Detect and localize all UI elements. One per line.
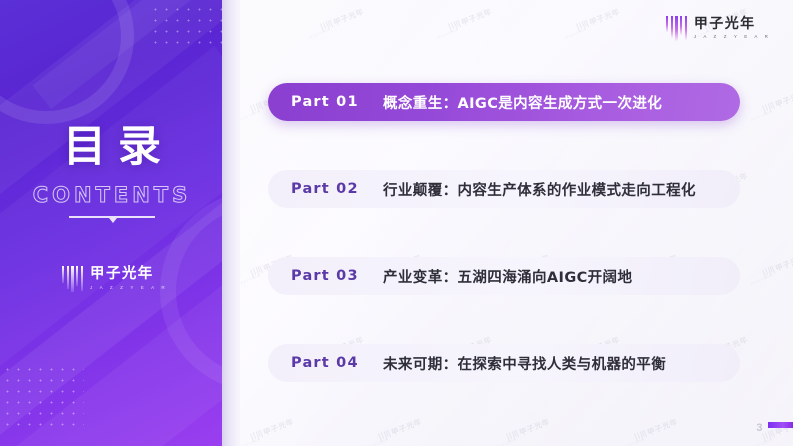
contents-item-title: 未来可期：在探索中寻找人类与机器的平衡 bbox=[383, 353, 666, 374]
contents-item-4[interactable]: Part 04 未来可期：在探索中寻找人类与机器的平衡 bbox=[268, 344, 740, 382]
contents-list: Part 01 概念重生：AIGC是内容生成方式一次进化 Part 02 行业颠… bbox=[268, 0, 744, 446]
page-subtitle: CONTENTS bbox=[0, 183, 224, 207]
left-panel-logo: 甲子光年 J A Z Z Y E A R bbox=[62, 266, 168, 292]
decor-ring-top-left bbox=[0, 0, 134, 124]
contents-item-title: 行业颠覆：内容生产体系的作业模式走向工程化 bbox=[383, 179, 696, 200]
contents-item-1[interactable]: Part 01 概念重生：AIGC是内容生成方式一次进化 bbox=[268, 83, 740, 121]
page-number: 3 bbox=[756, 422, 763, 434]
contents-item-3[interactable]: Part 03 产业变革：五湖四海涌向AIGC开阔地 bbox=[268, 257, 740, 295]
contents-item-number: Part 03 bbox=[291, 268, 383, 284]
contents-item-2[interactable]: Part 02 行业颠覆：内容生产体系的作业模式走向工程化 bbox=[268, 170, 740, 208]
logo-name-cn: 甲子光年 bbox=[90, 266, 168, 283]
left-decorative-panel: 目录 CONTENTS 甲子光年 J A Z Z Y E A R bbox=[0, 0, 224, 446]
slide-root: 甲子光年JAZZYEAR甲子光年JAZZYEAR甲子光年JAZZYEAR甲子光年… bbox=[0, 0, 793, 446]
page-title: 目录 bbox=[0, 126, 224, 169]
contents-item-number: Part 02 bbox=[291, 181, 383, 197]
corner-accent-bar bbox=[768, 422, 793, 428]
logo-text-group: 甲子光年 J A Z Z Y E A R bbox=[90, 266, 168, 290]
contents-item-title: 概念重生：AIGC是内容生成方式一次进化 bbox=[383, 92, 662, 113]
contents-item-number: Part 01 bbox=[291, 94, 383, 110]
title-divider bbox=[69, 216, 155, 218]
logo-bars-icon bbox=[62, 266, 83, 292]
dot-grid-bottom-left bbox=[2, 364, 84, 434]
contents-item-title: 产业变革：五湖四海涌向AIGC开阔地 bbox=[383, 266, 632, 287]
dot-grid-top-right bbox=[150, 4, 224, 52]
logo-name-en: J A Z Z Y E A R bbox=[90, 285, 168, 290]
panel-seam bbox=[222, 0, 240, 446]
contents-item-number: Part 04 bbox=[291, 355, 383, 371]
